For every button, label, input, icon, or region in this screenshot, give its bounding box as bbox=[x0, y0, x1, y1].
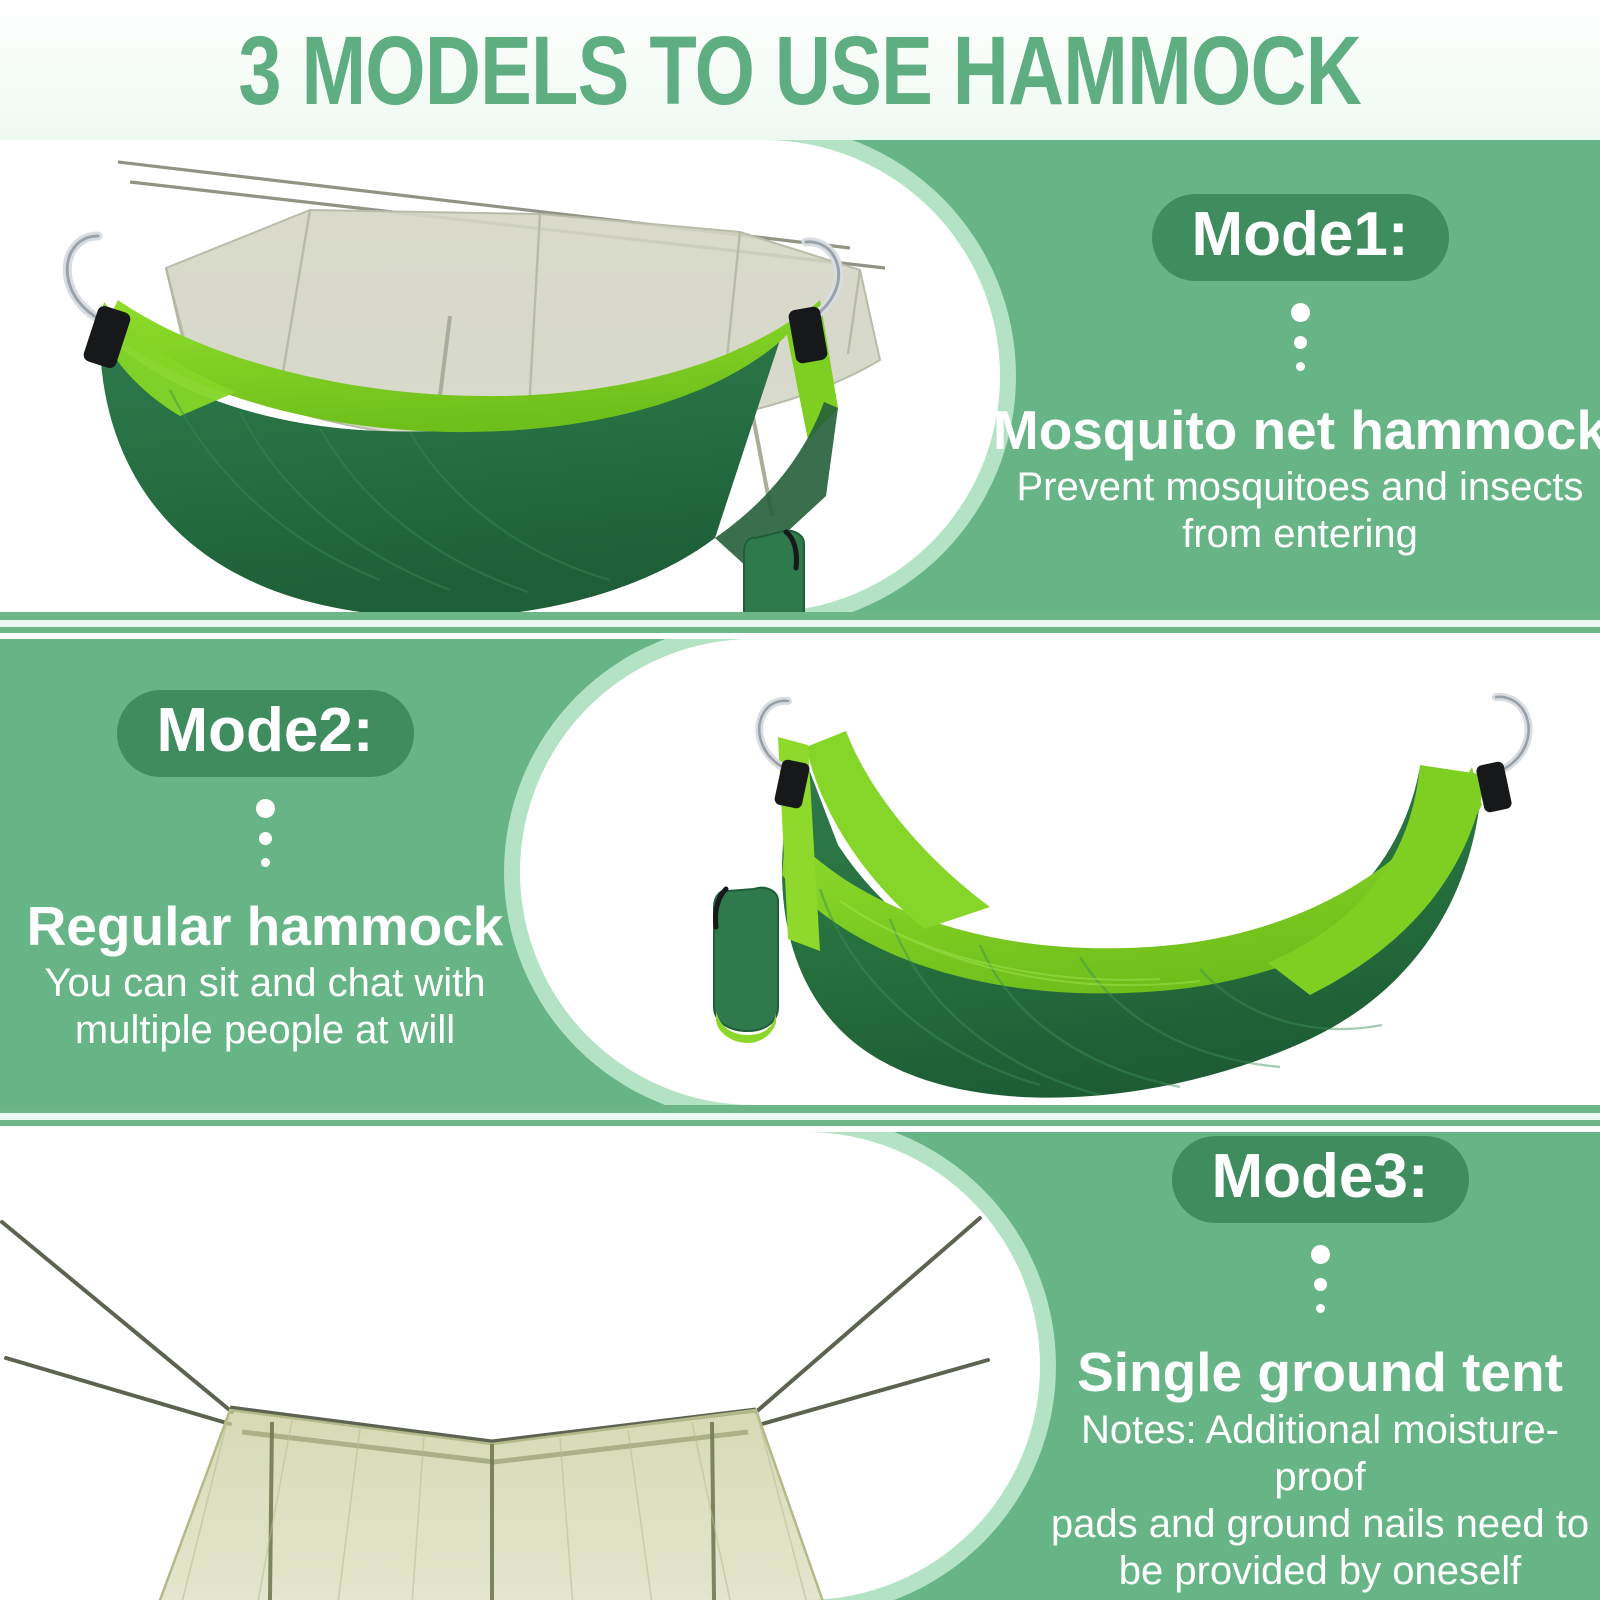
text-block-mode2: Mode2: Regular hammock You can sit and c… bbox=[0, 639, 530, 1105]
description-mode2-line2: multiple people at will bbox=[75, 1007, 455, 1054]
badge-mode2: Mode2: bbox=[117, 690, 414, 777]
heading-mode2: Regular hammock bbox=[27, 897, 504, 956]
dot-medium bbox=[1294, 336, 1307, 349]
dot-small bbox=[1296, 362, 1305, 371]
page-title: 3 MODELS TO USE HAMMOCK bbox=[239, 22, 1362, 119]
dot-large bbox=[1291, 303, 1310, 322]
header-banner: 3 MODELS TO USE HAMMOCK bbox=[0, 0, 1600, 140]
product-stage-mode1 bbox=[0, 140, 1000, 612]
stuff-sack bbox=[714, 888, 778, 1043]
divider-2 bbox=[0, 1105, 1600, 1126]
heading-mode3: Single ground tent bbox=[1077, 1343, 1563, 1402]
description-mode2-line1: You can sit and chat with bbox=[44, 960, 485, 1007]
dot-connector-mode2 bbox=[256, 799, 275, 867]
dot-large bbox=[256, 799, 275, 818]
heading-mode1: Mosquito net hammock bbox=[993, 401, 1600, 460]
carabiner-right bbox=[1475, 697, 1528, 814]
description-mode3-line1: Notes: Additional moisture-proof bbox=[1040, 1407, 1600, 1501]
stuff-sack bbox=[744, 531, 804, 612]
dot-large bbox=[1311, 1245, 1330, 1264]
description-mode1-line1: Prevent mosquitoes and insects bbox=[1017, 464, 1584, 511]
panel-mode3: Mode3: Single ground tent Notes: Additio… bbox=[0, 1132, 1600, 1600]
divider-bar-bottom bbox=[0, 1120, 1600, 1126]
dot-small bbox=[261, 858, 270, 867]
divider-bar-bottom bbox=[0, 627, 1600, 633]
dot-medium bbox=[259, 832, 272, 845]
badge-mode3: Mode3: bbox=[1172, 1136, 1469, 1223]
divider-bar-top bbox=[0, 612, 1600, 620]
product-stage-mode2 bbox=[520, 639, 1600, 1105]
text-block-mode1: Mode1: Mosquito net hammock Prevent mosq… bbox=[1000, 140, 1600, 612]
dot-small bbox=[1316, 1304, 1325, 1313]
badge-mode1: Mode1: bbox=[1152, 194, 1449, 281]
description-mode1-line2: from entering bbox=[1182, 511, 1418, 558]
divider-1 bbox=[0, 612, 1600, 633]
panel-mode1: Mode1: Mosquito net hammock Prevent mosq… bbox=[0, 140, 1600, 612]
divider-bar-gap bbox=[0, 620, 1600, 627]
product-image-regular-hammock bbox=[520, 639, 1600, 1105]
description-mode3-line2: pads and ground nails need to bbox=[1051, 1501, 1589, 1548]
dot-medium bbox=[1314, 1278, 1327, 1291]
text-block-mode3: Mode3: Single ground tent Notes: Additio… bbox=[1040, 1132, 1600, 1600]
dot-connector-mode3 bbox=[1311, 1245, 1330, 1313]
product-image-single-ground-tent bbox=[0, 1132, 1040, 1600]
panel-mode2: Mode2: Regular hammock You can sit and c… bbox=[0, 639, 1600, 1105]
divider-bar-gap bbox=[0, 1113, 1600, 1120]
divider-bar-top bbox=[0, 1105, 1600, 1113]
dot-connector-mode1 bbox=[1291, 303, 1310, 371]
product-stage-mode3 bbox=[0, 1132, 1040, 1600]
guy-lines bbox=[2, 1218, 988, 1424]
description-mode3-line3: be provided by oneself bbox=[1119, 1548, 1522, 1595]
product-image-mosquito-net-hammock bbox=[0, 140, 1000, 612]
